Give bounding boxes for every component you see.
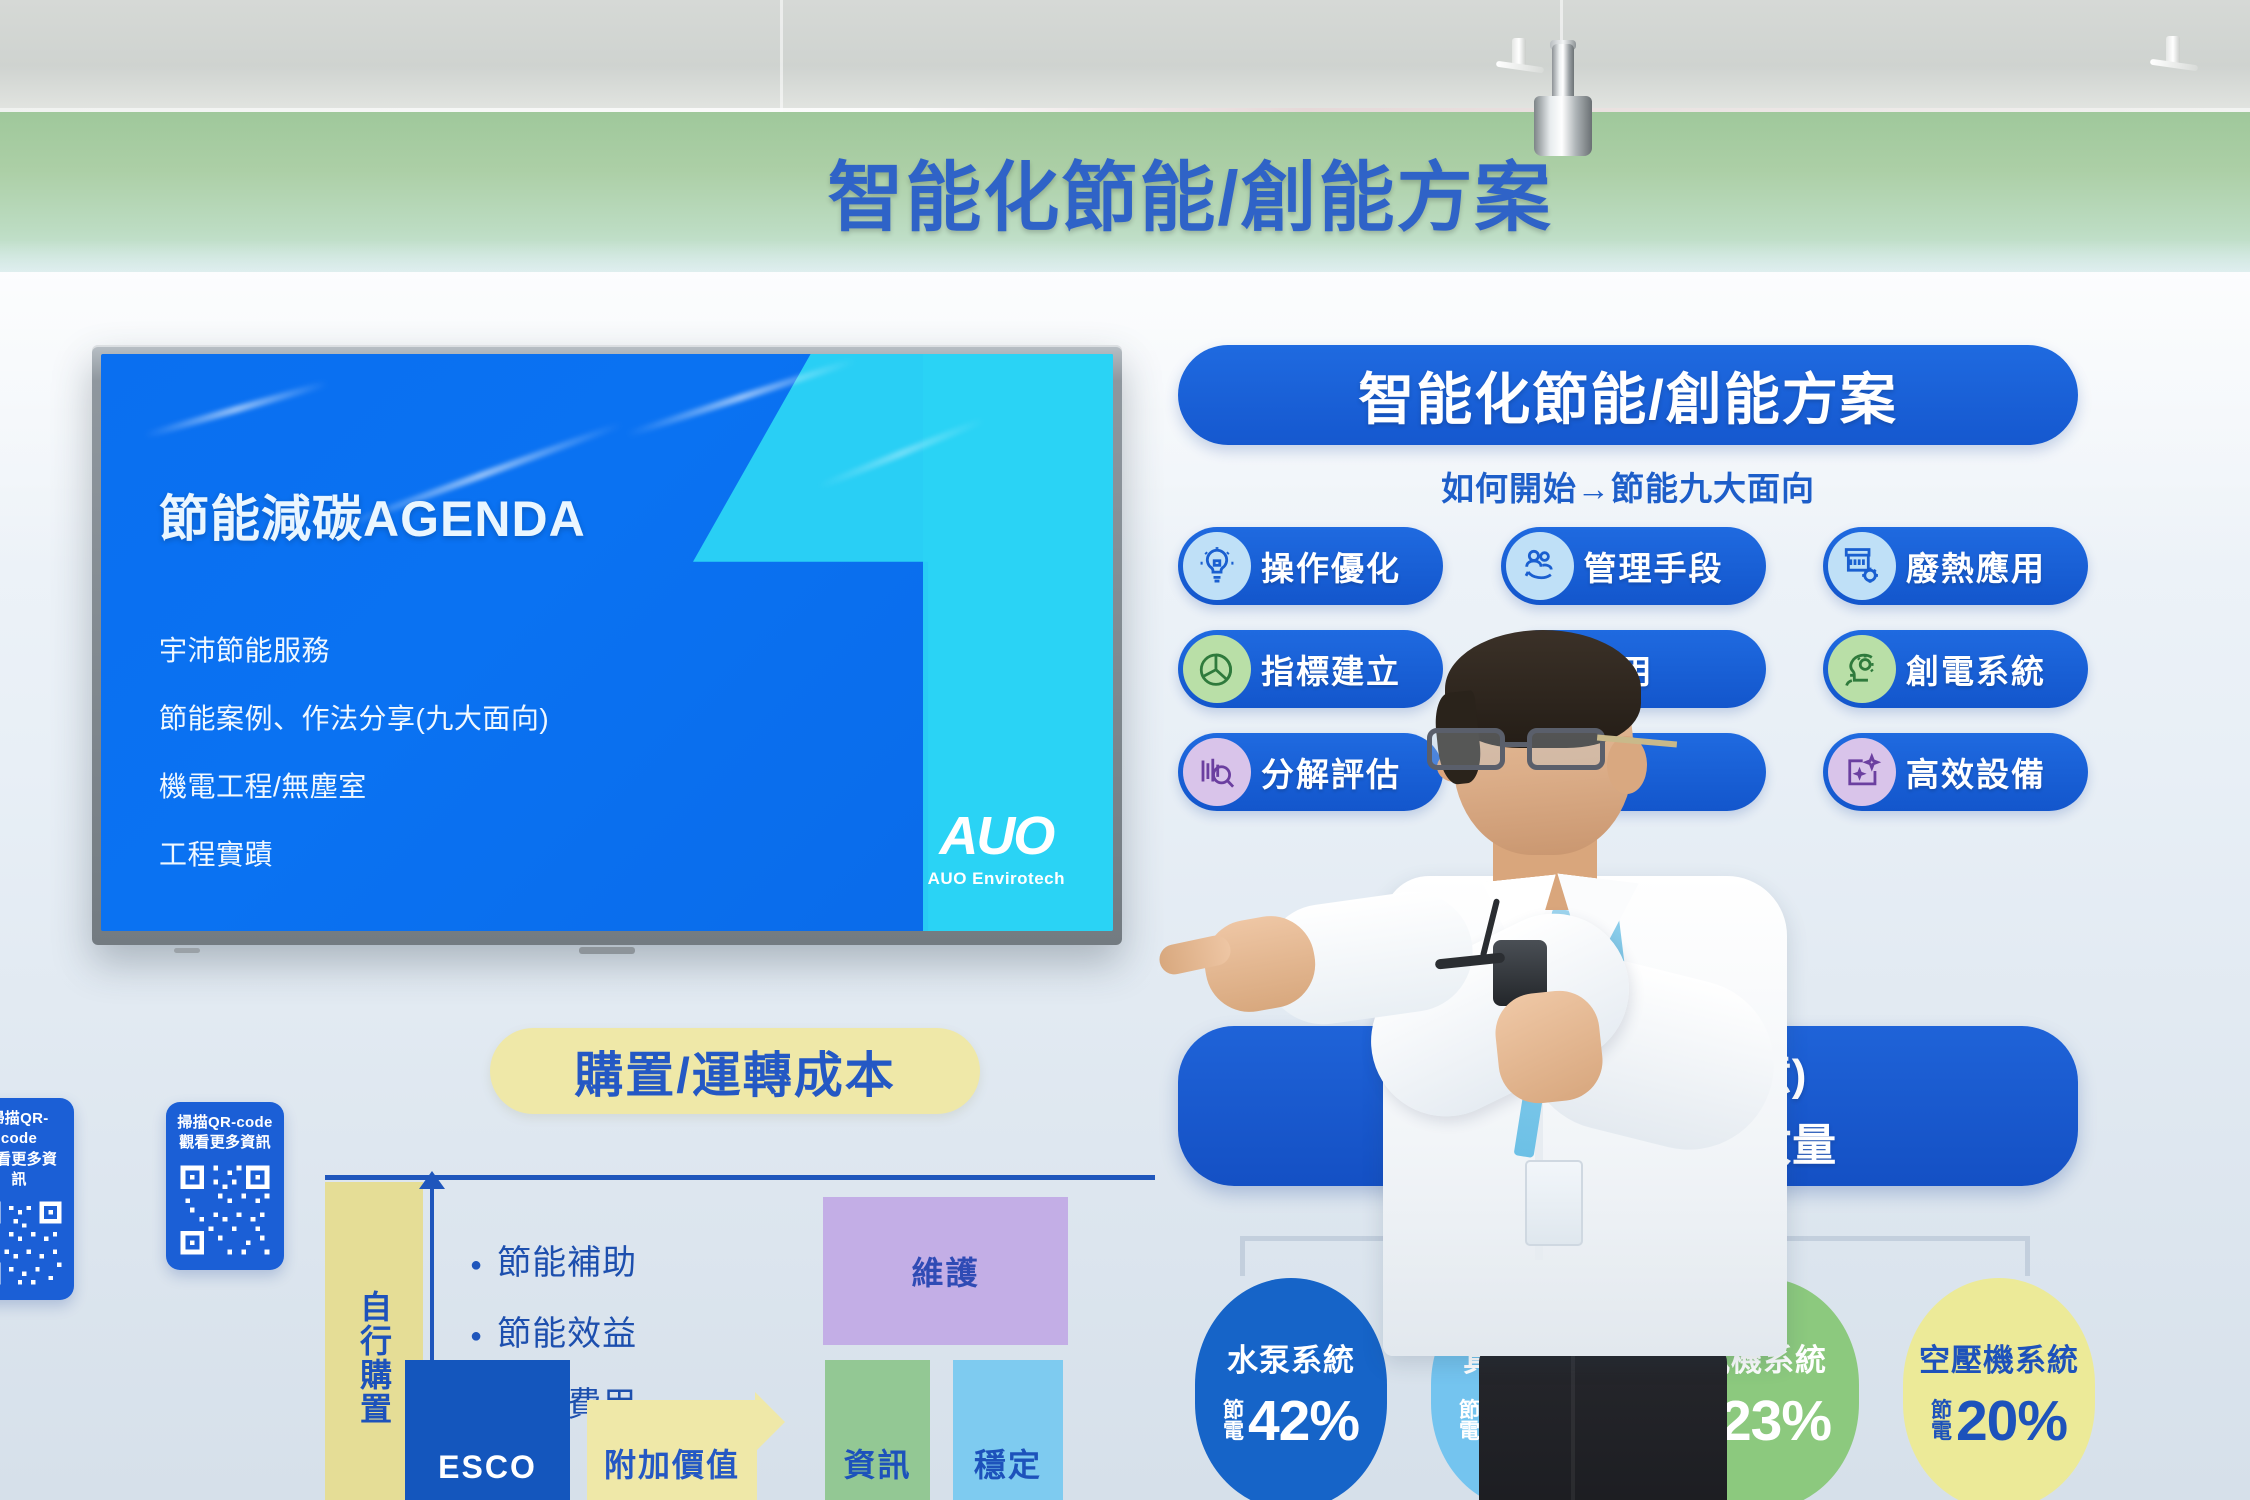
eyeglass-bridge (1505, 742, 1527, 747)
qr-code-image (176, 1161, 274, 1259)
eyeglasses (1427, 728, 1623, 772)
aspect-pill-5[interactable]: 創電系統 (1823, 630, 2088, 708)
system-name: 空壓機系統 (1919, 1335, 2079, 1380)
aspect-pill-1[interactable]: 管理手段 (1501, 527, 1766, 605)
auo-logo-mark: AUO (928, 805, 1065, 867)
lightbulb-icon (1183, 532, 1251, 600)
qr-caption-line-1: 掃描QR-code (177, 1114, 272, 1131)
factory-gear-icon (1828, 532, 1896, 600)
cost-bar-label: 維護 (911, 1248, 979, 1294)
slide-title: 節能減碳AGENDA (159, 479, 586, 551)
aspect-label: 管理手段 (1584, 542, 1724, 590)
poster-subheader: 如何開始→節能九大面向 (1178, 462, 2078, 510)
exhibition-booth-photo: 智能化節能/創能方案 節能減碳AGENDA 宇沛節能服務 節能案例、作法分享(九… (0, 0, 2250, 1500)
poster-header-pill: 智能化節能/創能方案 (1178, 345, 2078, 445)
spotlight-body (1534, 96, 1592, 156)
system-oval-3: 空壓機系統 節電 20% (1903, 1278, 2095, 1500)
qr-card-right[interactable]: 掃描QR-code 觀看更多資訊 (166, 1102, 284, 1270)
connector-drop (1240, 1236, 1245, 1276)
tv-screen: 節能減碳AGENDA 宇沛節能服務 節能案例、作法分享(九大面向) 機電工程/無… (101, 354, 1113, 931)
aspect-pill-2[interactable]: 廢熱應用 (1823, 527, 2088, 605)
cost-bar-label: 穩定 (974, 1440, 1042, 1486)
chart-top-rule (325, 1175, 1155, 1180)
agenda-item: 機電工程/無塵室 (159, 765, 549, 805)
spotlight-neck (1552, 44, 1574, 102)
cost-bar-maintenance: 維護 (823, 1197, 1068, 1345)
pie-chart-icon (1183, 635, 1251, 703)
qr-code-image (0, 1197, 64, 1289)
aspect-label: 廢熱應用 (1906, 542, 2046, 590)
eyeglass-lens-right (1527, 728, 1605, 770)
cost-title-pill: 購置/運轉成本 (490, 1028, 980, 1114)
qr-caption-line-2: 觀看更多資訊 (0, 1151, 57, 1188)
cost-bar-esco: ESCO (405, 1360, 570, 1500)
aspect-label: 創電系統 (1906, 645, 2046, 693)
cost-bar-stability: 穩定 (953, 1360, 1063, 1500)
id-badge (1525, 1160, 1583, 1246)
cost-title-text: 購置/運轉成本 (574, 1036, 896, 1107)
savings-item: 節能補助 (470, 1235, 637, 1284)
system-oval-0: 水泵系統 節電 42% (1195, 1278, 1387, 1500)
system-percent: 20% (1956, 1388, 2067, 1454)
auo-logo: AUO AUO Envirotech (928, 805, 1065, 889)
hand-left-holding-mic (1492, 987, 1607, 1107)
magnifier-data-icon (1183, 738, 1251, 806)
trouser-crease (1571, 1352, 1575, 1500)
brain-idea-icon (1828, 635, 1896, 703)
slide-agenda-list: 宇沛節能服務 節能案例、作法分享(九大面向) 機電工程/無塵室 工程實蹟 (159, 629, 549, 901)
cost-bar-information: 資訊 (825, 1360, 930, 1500)
aspect-label: 操作優化 (1261, 542, 1401, 590)
aspect-pill-0[interactable]: 操作優化 (1178, 527, 1443, 605)
qr-caption: 掃描QR-code 觀看更多資訊 (176, 1113, 274, 1154)
qr-caption-line-2: 觀看更多資訊 (179, 1134, 271, 1151)
cost-bar-label: 資訊 (843, 1440, 911, 1486)
spotlight-fixture (1528, 44, 1598, 156)
system-value-row: 節電 42% (1223, 1388, 1359, 1454)
aspect-label: 高效設備 (1906, 748, 2046, 796)
system-tag: 節電 (1931, 1400, 1952, 1442)
slide-streak (144, 380, 329, 439)
sparkle-box-icon (1828, 738, 1896, 806)
qr-caption: 掃描QR-code 觀看更多資訊 (0, 1109, 64, 1190)
presenter (1375, 640, 1795, 1500)
tv-indicator (174, 948, 200, 953)
cost-bar-label: ESCO (438, 1449, 537, 1486)
cost-bar-label: 附加價值 (604, 1440, 740, 1486)
agenda-item: 宇沛節能服務 (159, 629, 549, 669)
trousers (1479, 1346, 1727, 1500)
cost-bar-added-value: 附加價值 (587, 1400, 757, 1500)
system-percent: 42% (1248, 1388, 1359, 1454)
cost-bar-label: 自行購置 (351, 1290, 397, 1426)
qr-card-left[interactable]: 掃描QR-code 觀看更多資訊 (0, 1098, 74, 1300)
eyeglass-lens-left (1427, 728, 1505, 770)
aspect-row: 操作優化 管理手段 廢熱應用 (1178, 527, 2088, 605)
system-tag: 節電 (1223, 1400, 1244, 1442)
presentation-display: 節能減碳AGENDA 宇沛節能服務 節能案例、作法分享(九大面向) 機電工程/無… (92, 345, 1122, 945)
callout-arrow (755, 1392, 785, 1452)
lighting-track (0, 94, 2250, 102)
system-value-row: 節電 20% (1931, 1388, 2067, 1454)
savings-item: 節能效益 (470, 1306, 637, 1355)
connector-drop (2025, 1236, 2030, 1276)
auo-logo-subtitle: AUO Envirotech (928, 869, 1065, 889)
agenda-item: 節能案例、作法分享(九大面向) (159, 697, 549, 737)
system-name: 水泵系統 (1227, 1335, 1355, 1380)
aspect-pill-8[interactable]: 高效設備 (1823, 733, 2088, 811)
cost-comparison-chart: 自行購置 節能補助 節能效益 維護費用 ESCO 附加價值 資訊 穩定 維護 (325, 1175, 1155, 1500)
ceiling (0, 0, 2250, 120)
qr-caption-line-1: 掃描QR-code (0, 1110, 49, 1147)
tv-ir-sensor (579, 947, 635, 954)
agenda-item: 工程實蹟 (159, 833, 549, 873)
track-light-mount (2148, 36, 2200, 82)
people-care-icon (1506, 532, 1574, 600)
poster-header-text: 智能化節能/創能方案 (1358, 355, 1898, 436)
